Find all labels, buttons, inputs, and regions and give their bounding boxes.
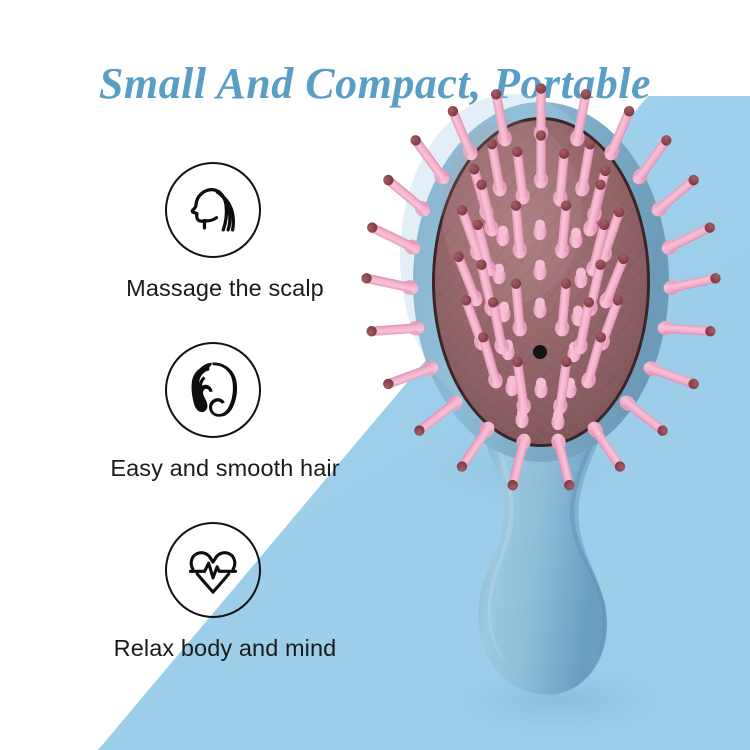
page-title: Small And Compact, Portable — [0, 58, 750, 109]
feature-icon-circle — [165, 342, 261, 438]
feature-label: Massage the scalp — [60, 275, 390, 302]
feature-item-massage: Massage the scalp — [60, 162, 390, 302]
feature-label: Easy and smooth hair — [60, 455, 390, 482]
woman-long-wavy-hair-silhouette-icon — [182, 359, 244, 421]
heart-pulse-icon — [183, 540, 243, 600]
feature-icon-circle — [165, 522, 261, 618]
feature-label: Relax body and mind — [60, 635, 390, 662]
feature-item-smooth-hair: Easy and smooth hair — [60, 342, 390, 482]
feature-icon-circle — [165, 162, 261, 258]
product-banner: Small And Compact, Portable Massage the … — [0, 0, 750, 750]
woman-head-profile-hair-icon — [182, 179, 244, 241]
feature-item-relax: Relax body and mind — [60, 522, 390, 662]
